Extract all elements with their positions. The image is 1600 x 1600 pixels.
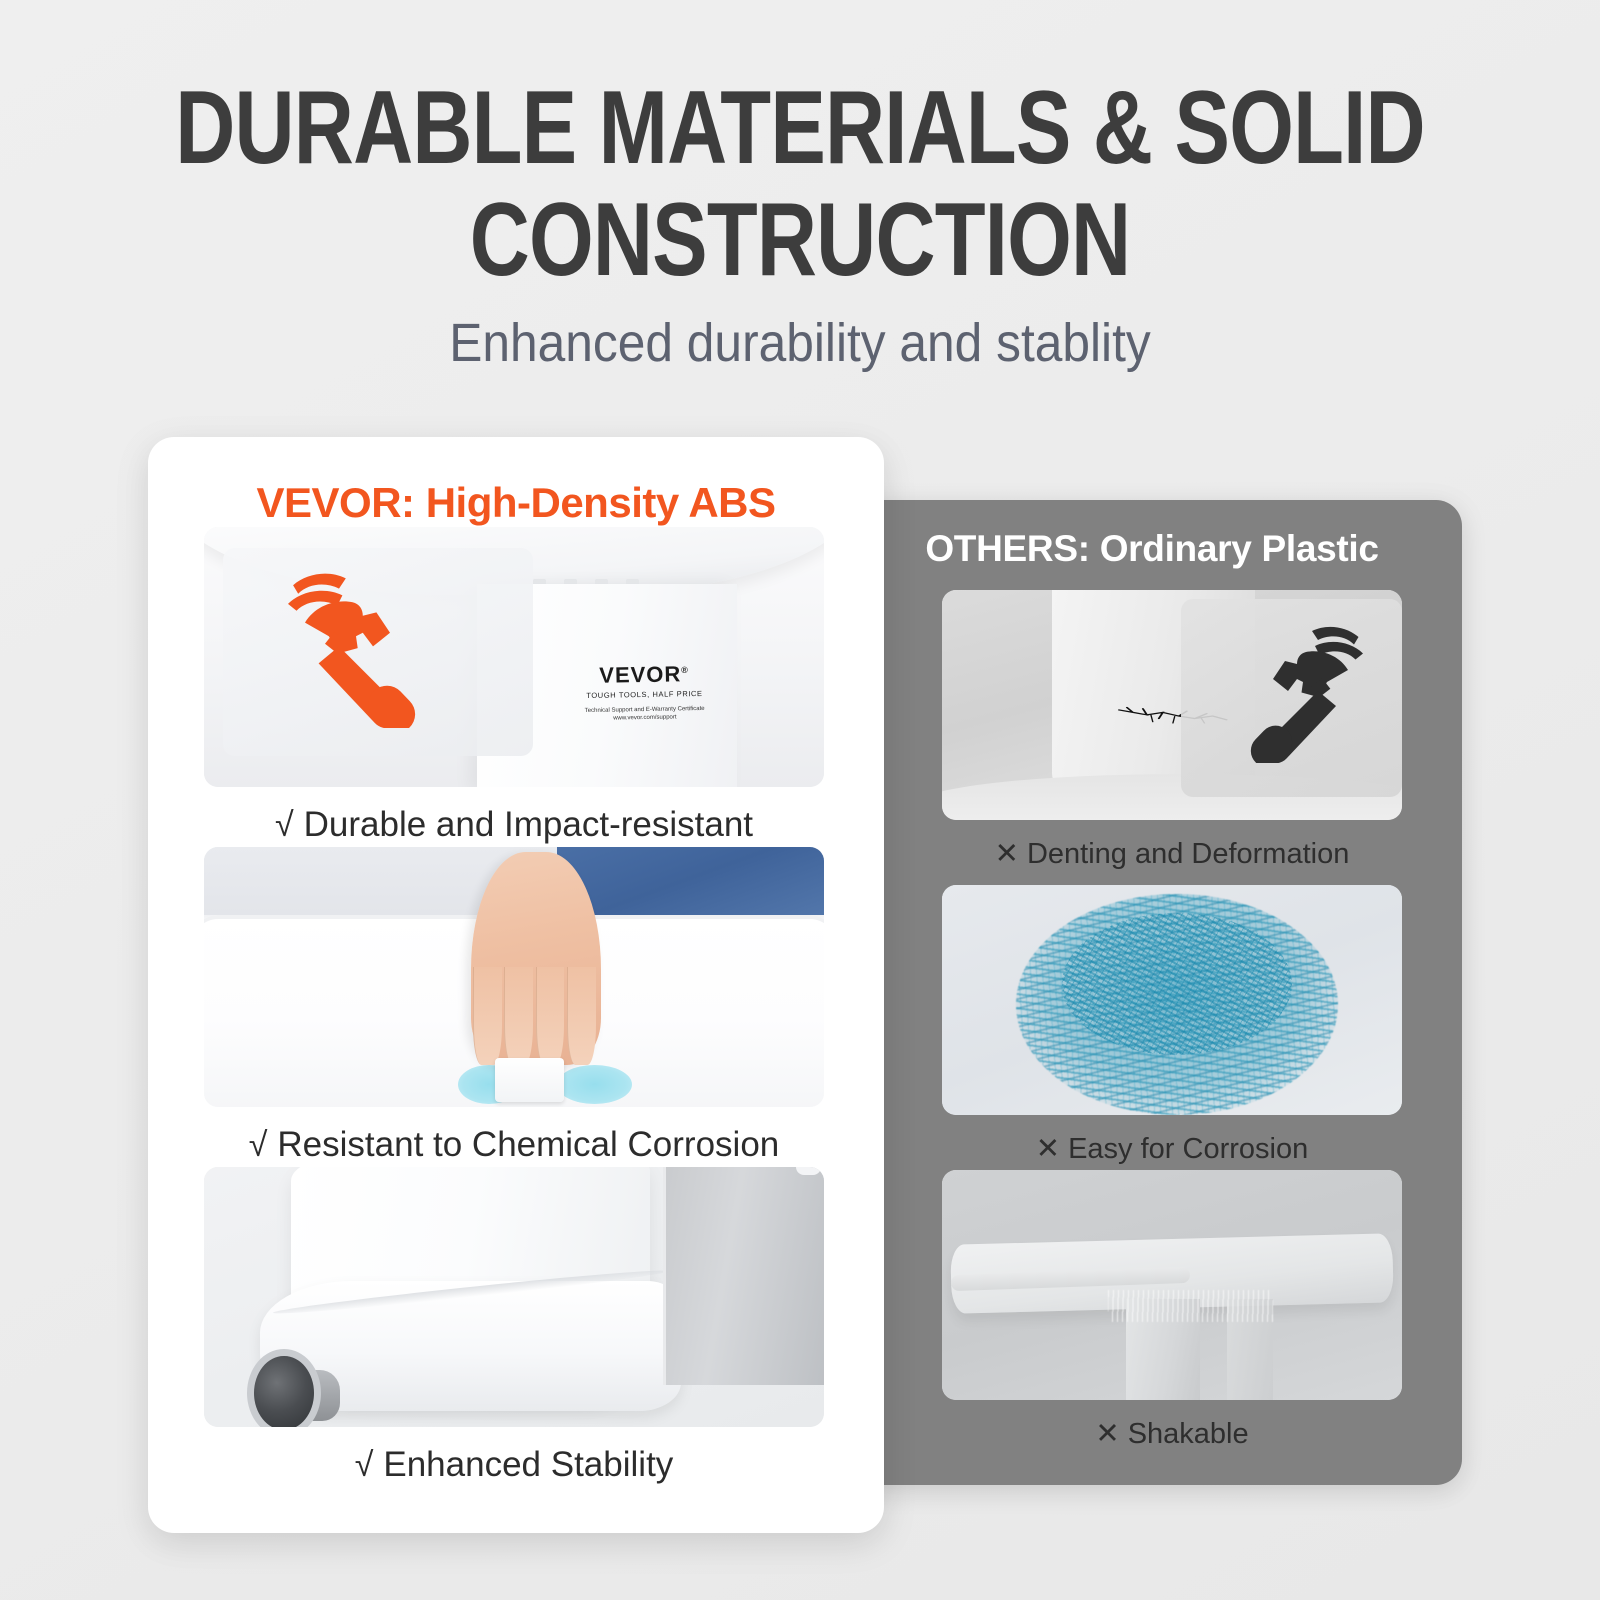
others-item-denting: ✕Denting and Deformation bbox=[942, 590, 1402, 871]
page-title-line-1: DURABLE MATERIALS & SOLID bbox=[160, 72, 1440, 184]
vevor-panel-title: VEVOR: High-Density ABS bbox=[148, 479, 884, 527]
cross-mark-icon: ✕ bbox=[995, 838, 1019, 870]
others-caption-denting: ✕Denting and Deformation bbox=[942, 836, 1402, 871]
others-caption-shakable: ✕Shakable bbox=[942, 1416, 1402, 1451]
vevor-item-stability: √Enhanced Stability bbox=[204, 1167, 824, 1485]
others-item-shakable: ✕Shakable bbox=[942, 1170, 1402, 1451]
hand-illustration bbox=[471, 852, 601, 1065]
vevor-item-corrosion: √Resistant to Chemical Corrosion bbox=[204, 847, 824, 1165]
promo-infographic: DURABLE MATERIALS & SOLID CONSTRUCTION E… bbox=[0, 0, 1600, 1600]
page-title: DURABLE MATERIALS & SOLID CONSTRUCTION bbox=[160, 72, 1440, 297]
vevor-caption-corrosion: √Resistant to Chemical Corrosion bbox=[204, 1125, 824, 1165]
others-comparison-panel: OTHERS: Ordinary Plastic bbox=[842, 500, 1462, 1485]
hammer-icon bbox=[254, 558, 424, 728]
page-subtitle: Enhanced durability and stablity bbox=[64, 312, 1536, 374]
cracked-plastic-hammer-photo bbox=[942, 590, 1402, 820]
caster-wheel-illustration bbox=[247, 1349, 352, 1427]
hand-wiping-tray-with-sponge-photo bbox=[204, 847, 824, 1107]
hammer-icon bbox=[1243, 613, 1393, 763]
cross-mark-icon: ✕ bbox=[1036, 1133, 1060, 1165]
cart-base-with-caster-photo bbox=[204, 1167, 824, 1427]
wobbling-tabletop-photo bbox=[942, 1170, 1402, 1400]
others-item-corrosion: ✕Easy for Corrosion bbox=[942, 885, 1402, 1166]
hammer-striking-abs-cart-photo: VEVOR® TOUGH TOOLS, HALF PRICE Technical… bbox=[204, 527, 824, 787]
check-mark-icon: √ bbox=[355, 1446, 374, 1484]
check-mark-icon: √ bbox=[275, 806, 294, 844]
vevor-caption-impact: √Durable and Impact-resistant bbox=[204, 805, 824, 845]
others-panel-title: OTHERS: Ordinary Plastic bbox=[842, 528, 1462, 570]
page-title-line-2: CONSTRUCTION bbox=[160, 184, 1440, 296]
vevor-product-label: VEVOR® TOUGH TOOLS, HALF PRICE Technical… bbox=[538, 660, 750, 724]
vevor-item-impact: VEVOR® TOUGH TOOLS, HALF PRICE Technical… bbox=[204, 527, 824, 845]
sponge-illustration bbox=[495, 1058, 563, 1102]
vevor-caption-stability: √Enhanced Stability bbox=[204, 1445, 824, 1485]
corroded-scratched-surface-photo bbox=[942, 885, 1402, 1115]
vevor-comparison-panel: VEVOR: High-Density ABS VEVOR® TOUGH TOO… bbox=[148, 437, 884, 1533]
cross-mark-icon: ✕ bbox=[1095, 1418, 1119, 1450]
others-caption-corrosion: ✕Easy for Corrosion bbox=[942, 1131, 1402, 1166]
check-mark-icon: √ bbox=[249, 1126, 268, 1164]
